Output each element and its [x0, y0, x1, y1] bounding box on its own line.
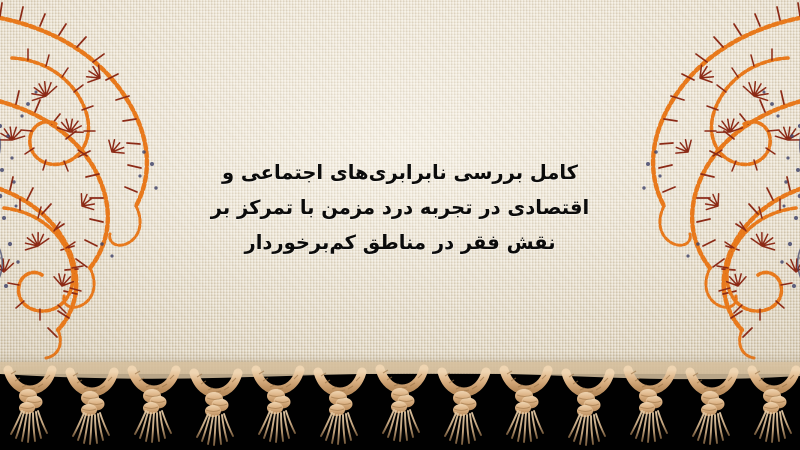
textile-quote-card: کامل بررسی نابرابری‌های اجتماعی و اقتصاد…: [0, 0, 800, 450]
quote-line-2: اقتصادی در تجربه درد مزمن با تمرکز بر: [200, 190, 600, 225]
quote-text-block: کامل بررسی نابرابری‌های اجتماعی و اقتصاد…: [200, 155, 600, 260]
fringe-background: [0, 374, 800, 450]
linen-fabric-panel: کامل بررسی نابرابری‌های اجتماعی و اقتصاد…: [0, 0, 800, 378]
quote-line-3: نقش فقر در مناطق کم‌برخوردار: [200, 225, 600, 260]
quote-line-1: کامل بررسی نابرابری‌های اجتماعی و: [200, 155, 600, 190]
